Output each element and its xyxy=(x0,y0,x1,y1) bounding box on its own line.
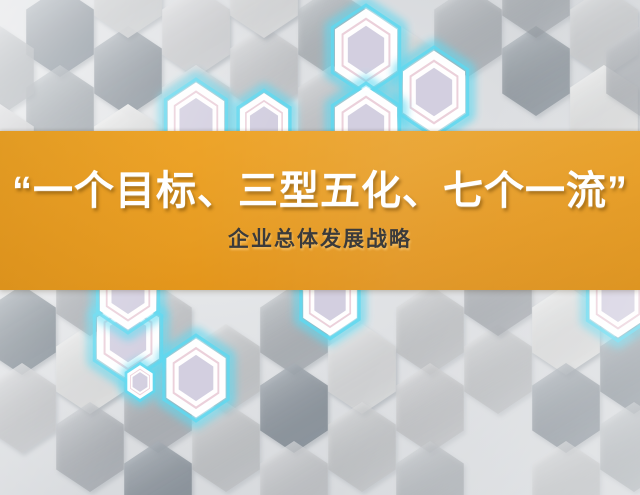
hexagon-tile xyxy=(328,402,396,492)
hexagon-tile xyxy=(94,26,162,116)
hexagon-tile xyxy=(532,363,600,453)
hexagon-tile xyxy=(464,324,532,414)
glowing-hexagon xyxy=(398,44,471,141)
hexagon-tile xyxy=(124,441,192,495)
hexagon-tile xyxy=(532,441,600,495)
hexagon-tile xyxy=(260,441,328,495)
banner-content: “一个目标、三型五化、七个一流” 企业总体发展战略 xyxy=(0,131,640,290)
hexagon-tile xyxy=(532,285,600,375)
presentation-slide: “一个目标、三型五化、七个一流” 企业总体发展战略 xyxy=(0,0,640,495)
title-banner: “一个目标、三型五化、七个一流” 企业总体发展战略 xyxy=(0,131,640,290)
hexagon-tile xyxy=(94,0,162,38)
hexagon-tile xyxy=(0,285,56,375)
hexagon-tile xyxy=(502,0,570,38)
hexagon-tile xyxy=(396,441,464,495)
glowing-hexagon xyxy=(125,362,155,402)
slide-title: “一个目标、三型五化、七个一流” xyxy=(12,169,628,213)
hexagon-tile xyxy=(260,363,328,453)
hexagon-tile xyxy=(396,285,464,375)
hexagon-tile xyxy=(56,402,124,492)
hexagon-tile xyxy=(502,26,570,116)
slide-subtitle: 企业总体发展战略 xyxy=(228,227,412,252)
hexagon-tile xyxy=(396,363,464,453)
hexagon-tile xyxy=(230,0,298,38)
hexagon-tile xyxy=(0,363,56,453)
hexagon-tile xyxy=(600,402,640,492)
glowing-hexagon xyxy=(161,332,230,424)
